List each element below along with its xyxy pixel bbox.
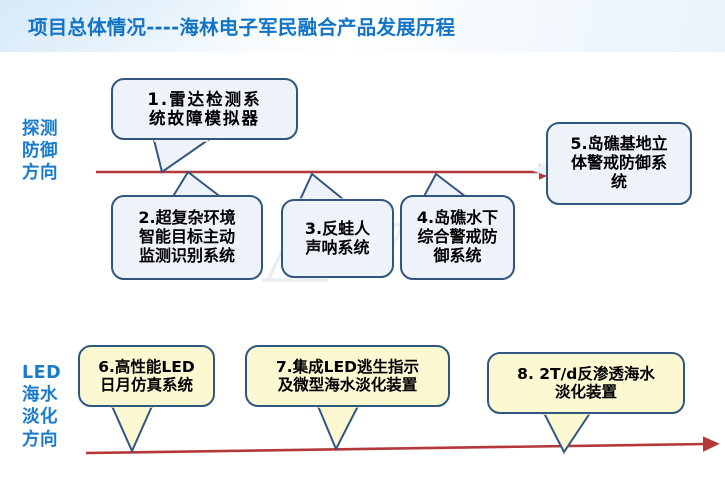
callout-box-1[interactable]: 1.雷达检测系 统故障模拟器: [111, 78, 298, 140]
callout-tail-3: [298, 172, 350, 202]
track-label-led-desalination: LED 海水 淡化 方向: [22, 362, 61, 451]
track-label-detection: 探测 防御 方向: [22, 118, 58, 185]
page-title: 项目总体情况----海林电子军民融合产品发展历程: [28, 11, 455, 40]
callout-box-4[interactable]: 4.岛礁水下 综合警戒防 御系统: [400, 195, 515, 280]
callout-box-2[interactable]: 2.超复杂环境 智能目标主动 监测识别系统: [111, 195, 263, 280]
callout-tail-7: [316, 404, 362, 452]
callout-tail-1: [152, 138, 212, 174]
callout-tail-6: [110, 404, 156, 454]
slide-canvas: 项目总体情况----海林电子军民融合产品发展历程 ® 海林电子 HAILIN E…: [0, 0, 725, 486]
callout-tail-8: [542, 411, 594, 455]
callout-box-3[interactable]: 3.反蛙人 声呐系统: [281, 199, 394, 278]
callout-box-6[interactable]: 6.高性能LED 日月仿真系统: [78, 345, 215, 407]
callout-box-5[interactable]: 5.岛礁基地立 体警戒防御系 统: [546, 122, 692, 205]
callout-box-8[interactable]: 8. 2T/d反渗透海水 淡化装置: [487, 352, 685, 414]
led-direction-arrow: [86, 444, 706, 453]
callout-box-7[interactable]: 7.集成LED逃生指示 及微型海水淡化装置: [245, 345, 450, 407]
